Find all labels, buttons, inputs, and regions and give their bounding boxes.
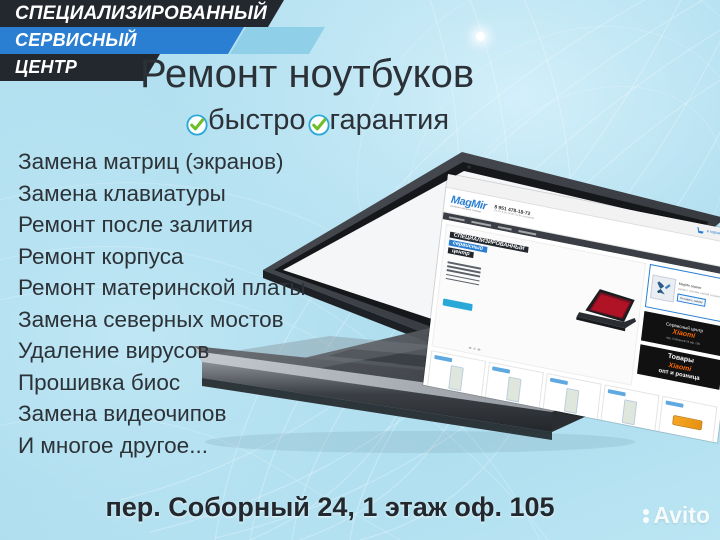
- ribbon-service: СЕРВИСНЫЙ: [0, 27, 259, 54]
- light-glow-dot: [476, 32, 485, 41]
- address-text: пер. Соборный 24, 1 этаж оф. 105: [0, 492, 660, 523]
- check-circle-icon-fast: [186, 111, 208, 133]
- list-item: Замена матриц (экранов): [18, 146, 358, 178]
- list-item: Ремонт материнской платы: [18, 272, 358, 304]
- list-item: Замена клавиатуры: [18, 178, 358, 210]
- check-circle-icon-warranty: [308, 111, 330, 133]
- list-item: И многое другое...: [18, 430, 358, 462]
- poster-canvas: СПЕЦИАЛИЗИРОВАННЫЙ СЕРВИСНЫЙ ЦЕНТР Ремон…: [0, 0, 720, 540]
- ribbon-specialized: СПЕЦИАЛИЗИРОВАННЫЙ: [0, 0, 299, 27]
- list-item: Замена видеочипов: [18, 398, 358, 430]
- list-item: Удаление вирусов: [18, 335, 358, 367]
- page-title: Ремонт ноутбуков: [140, 52, 580, 96]
- benefit-fast-label: быстро: [208, 104, 306, 137]
- list-item: Прошивка биос: [18, 367, 358, 399]
- list-item: Замена северных мостов: [18, 304, 358, 336]
- benefits-line: быстро гарантия: [186, 104, 451, 137]
- ribbon-wedge-decoration: [230, 27, 325, 54]
- list-item: Ремонт после залития: [18, 209, 358, 241]
- avito-label: Avito: [653, 502, 710, 529]
- avito-dots-icon: [643, 509, 649, 523]
- avito-watermark: Avito: [643, 502, 710, 529]
- services-list: Замена матриц (экранов) Замена клавиатур…: [18, 146, 358, 461]
- benefit-warranty-label: гарантия: [330, 104, 450, 137]
- list-item: Ремонт корпуса: [18, 241, 358, 273]
